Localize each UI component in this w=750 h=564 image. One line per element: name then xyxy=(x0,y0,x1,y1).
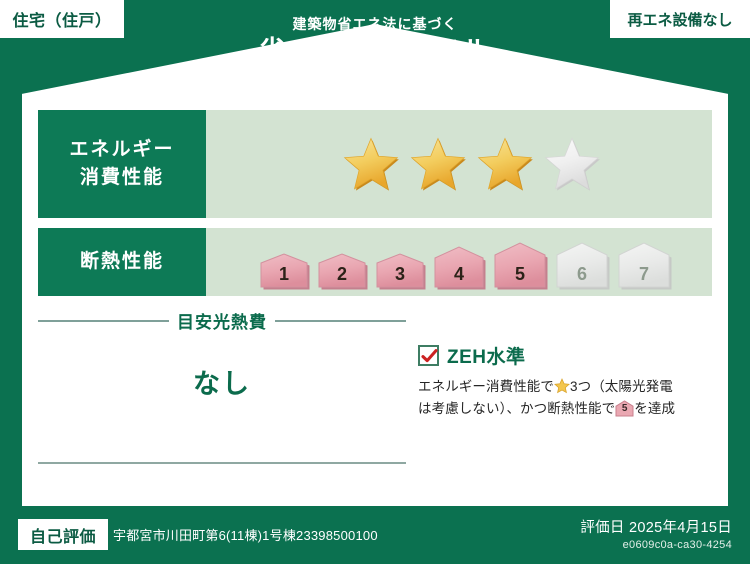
insulation-grade-number: 3 xyxy=(374,264,426,285)
insulation-performance-row: 断熱性能 1234567 xyxy=(38,228,712,296)
energy-label-line1: エネルギー xyxy=(69,136,174,164)
star-filled-icon xyxy=(409,136,467,192)
self-evaluation-label: 自己評価 xyxy=(30,523,96,547)
insulation-grade-badge-icon: 5 xyxy=(615,400,634,417)
divider-left xyxy=(38,320,169,322)
label-card-content: エネルギー 消費性能 断熱性能 1234567 目安光熱費 なし ZEH水 xyxy=(22,24,728,506)
star-filled-icon xyxy=(476,136,534,192)
checkbox-checked-icon xyxy=(418,345,439,366)
renewable-energy-badge: 再エネ設備なし xyxy=(610,0,750,38)
property-address: 宇都宮市川田町第6(11棟)1号棟23398500100 xyxy=(113,525,378,544)
zeh-block: ZEH水準 エネルギー消費性能で 3つ（太陽光発電 は考慮しない）、かつ断熱性能… xyxy=(418,342,714,420)
insulation-grade-active: 2 xyxy=(316,252,368,290)
renewable-energy-label: 再エネ設備なし xyxy=(627,9,732,30)
self-evaluation-badge: 自己評価 xyxy=(18,519,108,550)
insulation-grade-number: 1 xyxy=(258,264,310,285)
energy-performance-row: エネルギー 消費性能 xyxy=(38,110,712,218)
zeh-desc-part1: エネルギー消費性能で xyxy=(418,379,554,394)
insulation-grade-number: 7 xyxy=(616,264,672,285)
insulation-grade-active: 3 xyxy=(374,252,426,290)
insulation-grade-inactive: 6 xyxy=(554,241,610,290)
star-rating xyxy=(206,110,712,218)
estimated-cost-title: 目安光熱費 xyxy=(177,308,267,333)
energy-performance-label: エネルギー 消費性能 xyxy=(38,110,206,218)
divider-right xyxy=(275,320,406,322)
estimated-cost-bottom-divider xyxy=(38,462,406,464)
zeh-desc-stars: 3つ（太陽光発電 xyxy=(570,379,673,394)
energy-label-line2: 消費性能 xyxy=(80,164,164,192)
estimated-cost-header: 目安光熱費 xyxy=(38,308,406,333)
insulation-grade-active: 4 xyxy=(432,245,486,290)
star-empty-icon xyxy=(543,136,601,192)
evaluation-id: e0609c0a-ca30-4254 xyxy=(623,539,732,551)
insulation-label-line1: 断熱性能 xyxy=(80,248,164,276)
title-main: 省エネ性能ラベル xyxy=(0,35,750,69)
zeh-desc-part3: を達成 xyxy=(634,401,675,416)
insulation-grade-number: 5 xyxy=(492,264,548,285)
star-filled-icon xyxy=(342,136,400,192)
insulation-grade-scale: 1234567 xyxy=(206,228,712,296)
label-footer: 自己評価 宇都宮市川田町第6(11棟)1号棟23398500100 評価日 20… xyxy=(0,506,750,564)
insulation-performance-label: 断熱性能 xyxy=(38,228,206,296)
insulation-grade-number: 6 xyxy=(554,264,610,285)
insulation-grade-number: 2 xyxy=(316,264,368,285)
building-type-badge: 住宅（住戸） xyxy=(0,0,124,38)
insulation-grade-inactive: 7 xyxy=(616,241,672,290)
star-icon xyxy=(554,378,570,394)
insulation-grade-active: 1 xyxy=(258,252,310,290)
building-type-label: 住宅（住戸） xyxy=(12,7,111,31)
estimated-cost-value: なし xyxy=(38,362,406,401)
insulation-grade-active: 5 xyxy=(492,241,548,290)
insulation-grade-badge-value: 5 xyxy=(615,400,634,417)
zeh-description: エネルギー消費性能で 3つ（太陽光発電 は考慮しない）、かつ断熱性能で 5を達成 xyxy=(418,376,714,420)
insulation-performance-value: 1234567 xyxy=(206,228,712,296)
energy-performance-value xyxy=(206,110,712,218)
insulation-grade-number: 4 xyxy=(432,264,486,285)
zeh-desc-part2: は考慮しない）、かつ断熱性能で xyxy=(418,401,615,416)
zeh-header: ZEH水準 xyxy=(418,342,714,369)
zeh-title: ZEH水準 xyxy=(447,342,526,369)
evaluation-date: 評価日 2025年4月15日 xyxy=(580,516,732,537)
